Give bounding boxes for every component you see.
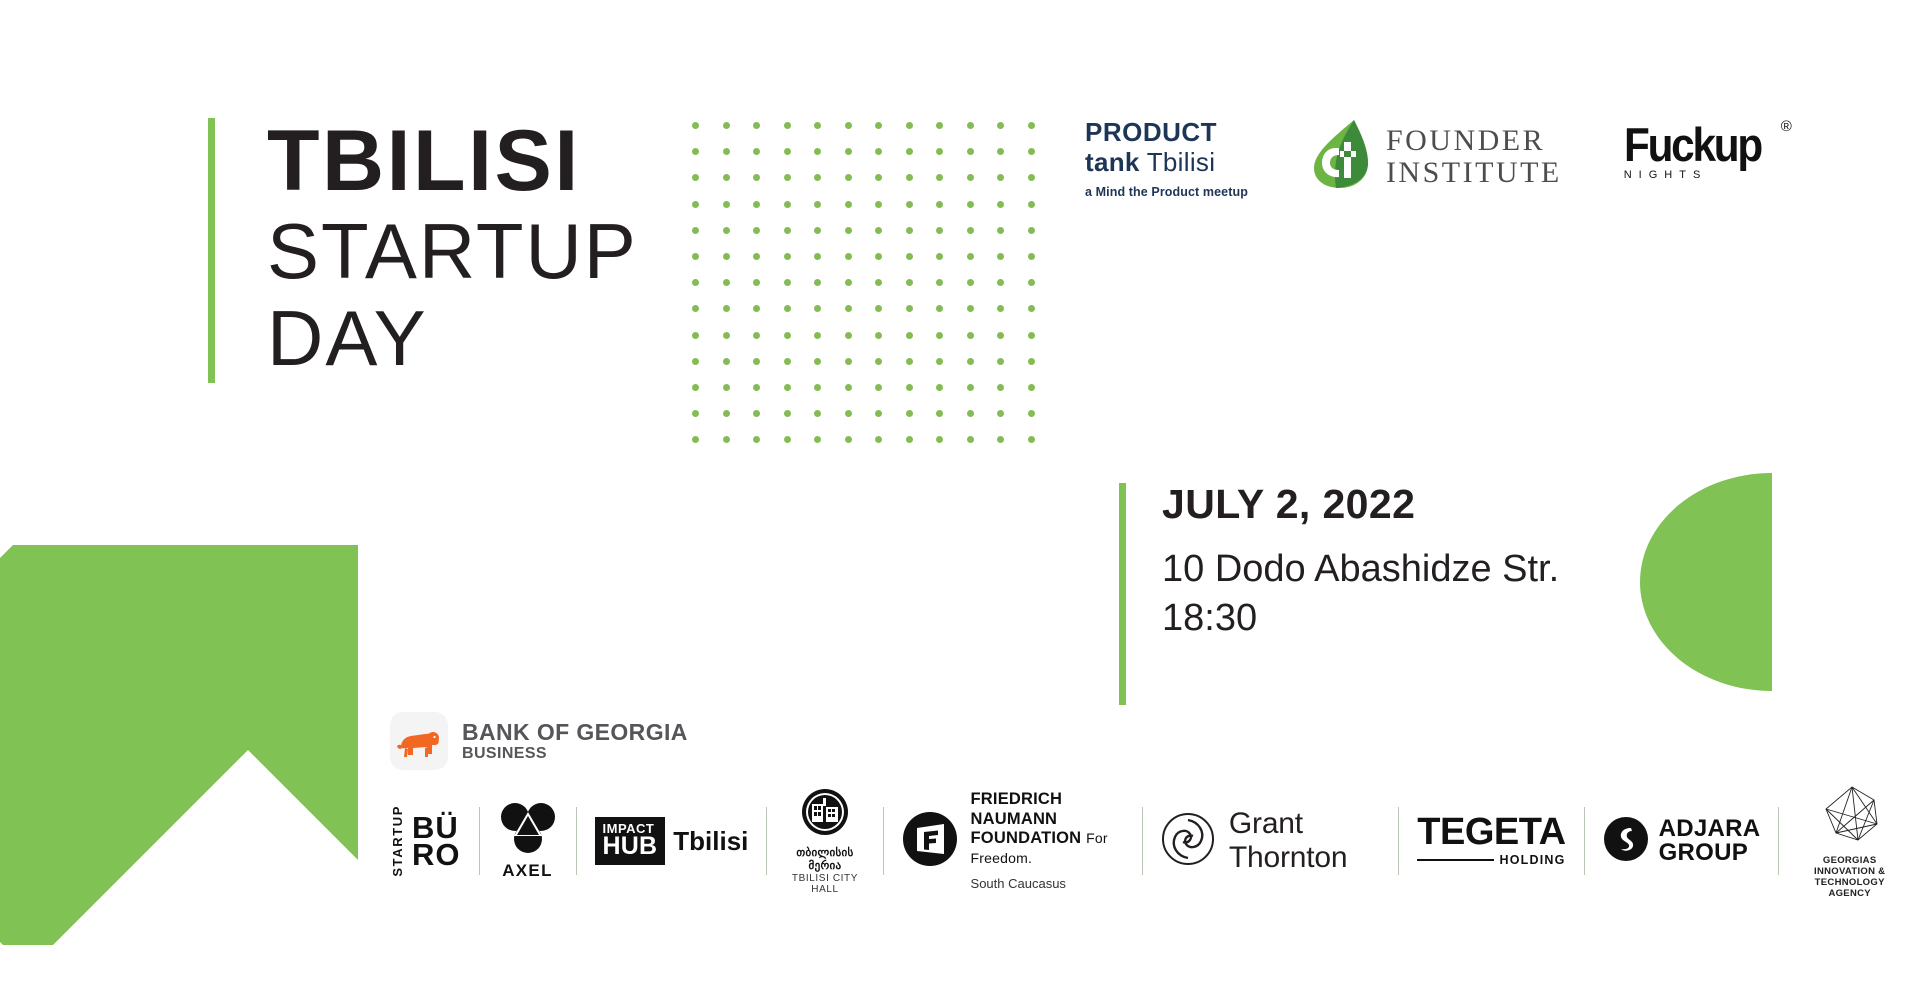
grid-dot xyxy=(692,201,699,208)
grid-dot xyxy=(967,253,974,260)
headline-green-rule xyxy=(208,118,215,383)
grid-dot xyxy=(845,358,852,365)
grid-dot xyxy=(906,148,913,155)
grid-dot xyxy=(784,358,791,365)
grid-dot xyxy=(1028,201,1035,208)
grid-dot xyxy=(997,279,1004,286)
grid-dot xyxy=(875,122,882,129)
founder-institute-line1: FOUNDER xyxy=(1386,125,1562,157)
grid-dot xyxy=(875,436,882,443)
organizer-logos: PRODUCT tank Tbilisi a Mind the Product … xyxy=(1085,118,1776,199)
event-address: 10 Dodo Abashidze Str. xyxy=(1162,545,1559,594)
grid-dot xyxy=(753,227,760,234)
grid-dot xyxy=(875,358,882,365)
grid-dot xyxy=(1028,410,1035,417)
grid-dot xyxy=(784,436,791,443)
grid-dot xyxy=(692,227,699,234)
grid-dot xyxy=(692,148,699,155)
product-tank-line1: PRODUCT xyxy=(1085,118,1248,147)
grid-dot xyxy=(875,305,882,312)
grid-dot xyxy=(784,305,791,312)
grid-dot xyxy=(692,122,699,129)
grid-dot xyxy=(967,305,974,312)
leaf-icon xyxy=(1310,118,1374,195)
grid-dot xyxy=(967,122,974,129)
grid-dot xyxy=(784,410,791,417)
grid-dot xyxy=(723,148,730,155)
grid-dot xyxy=(845,305,852,312)
grid-dot xyxy=(845,122,852,129)
grid-dot xyxy=(1028,384,1035,391)
grid-dot xyxy=(1028,279,1035,286)
grid-dot xyxy=(692,410,699,417)
grid-dot xyxy=(875,148,882,155)
grid-dot xyxy=(967,358,974,365)
grid-dot xyxy=(845,148,852,155)
grid-dot xyxy=(814,201,821,208)
fuckup-nights-logo: Fuckup ® NIGHTS xyxy=(1624,118,1776,181)
event-title-line1: TBILISI xyxy=(267,118,638,204)
grid-dot xyxy=(753,253,760,260)
grid-dot xyxy=(967,227,974,234)
grid-dot xyxy=(936,174,943,181)
grid-dot xyxy=(936,410,943,417)
grid-dot xyxy=(814,358,821,365)
grid-dot xyxy=(936,227,943,234)
grid-dot xyxy=(692,358,699,365)
grid-dot xyxy=(753,332,760,339)
grid-dot xyxy=(753,148,760,155)
green-half-circle-decoration xyxy=(1640,473,1772,691)
grid-dot xyxy=(784,384,791,391)
grid-dot xyxy=(997,122,1004,129)
grid-dot xyxy=(936,148,943,155)
grid-dot xyxy=(723,332,730,339)
grid-dot xyxy=(723,358,730,365)
grid-dot xyxy=(784,122,791,129)
grid-dot xyxy=(875,227,882,234)
grid-dot xyxy=(906,410,913,417)
grid-dot xyxy=(814,174,821,181)
grant-thornton-swirl-icon xyxy=(1161,812,1215,871)
grid-dot xyxy=(906,279,913,286)
grid-dot xyxy=(967,332,974,339)
grid-dot xyxy=(723,174,730,181)
grid-dot xyxy=(1028,305,1035,312)
grid-dot xyxy=(936,122,943,129)
grid-dot xyxy=(997,358,1004,365)
grid-dot xyxy=(753,305,760,312)
grid-dot xyxy=(1028,174,1035,181)
grid-dot xyxy=(967,436,974,443)
green-arrow-decoration xyxy=(0,545,358,945)
grid-dot xyxy=(875,279,882,286)
product-tank-tagline: a Mind the Product meetup xyxy=(1085,185,1248,199)
grid-dot xyxy=(753,201,760,208)
impact-hub-big: HUB xyxy=(603,835,658,859)
grid-dot xyxy=(814,253,821,260)
grid-dot xyxy=(1028,227,1035,234)
grid-dot xyxy=(967,410,974,417)
bank-of-georgia-sub: BUSINESS xyxy=(462,745,688,763)
grid-dot xyxy=(967,148,974,155)
product-tank-city: Tbilisi xyxy=(1147,147,1216,177)
grid-dot xyxy=(692,279,699,286)
grid-dot xyxy=(875,332,882,339)
event-title-line2: STARTUP xyxy=(267,208,638,295)
grid-dot xyxy=(814,148,821,155)
grid-dot xyxy=(1028,253,1035,260)
adjara-circle-icon xyxy=(1603,816,1649,867)
adjara-line2: GROUP xyxy=(1659,841,1761,865)
registered-trademark-icon: ® xyxy=(1781,118,1792,135)
grid-dot xyxy=(814,436,821,443)
grid-dot xyxy=(906,201,913,208)
grid-dot xyxy=(845,332,852,339)
product-tank-line2: tank Tbilisi xyxy=(1085,147,1248,178)
city-hall-seal-icon xyxy=(801,823,849,840)
grid-dot xyxy=(936,384,943,391)
grid-dot xyxy=(753,174,760,181)
grid-dot xyxy=(997,253,1004,260)
grid-dot xyxy=(692,436,699,443)
tegeta-name: TEGETA xyxy=(1417,815,1565,850)
grant-thornton-name: Grant Thornton xyxy=(1229,807,1380,875)
tegeta-sub: HOLDING xyxy=(1500,853,1566,867)
details-green-rule xyxy=(1119,483,1126,705)
grid-dot xyxy=(875,253,882,260)
fuckup-nights-wordmark: Fuckup xyxy=(1624,122,1761,167)
grid-dot xyxy=(997,174,1004,181)
event-poster: TBILISI STARTUP DAY PRODUCT tank Tbilisi… xyxy=(0,0,1920,1005)
bank-of-georgia-logo: BANK OF GEORGIA BUSINESS xyxy=(390,712,688,770)
grid-dot xyxy=(875,201,882,208)
grid-dot xyxy=(784,332,791,339)
grid-dot xyxy=(753,358,760,365)
grid-dot xyxy=(845,227,852,234)
grant-thornton-logo: Grant Thornton xyxy=(1143,795,1398,887)
grid-dot xyxy=(814,122,821,129)
gita-line2: TECHNOLOGY AGENCY xyxy=(1797,877,1902,899)
grid-dot xyxy=(967,384,974,391)
grid-dot xyxy=(845,410,852,417)
dot-grid-decoration xyxy=(692,122,1032,462)
grid-dot xyxy=(692,174,699,181)
grid-dot xyxy=(753,436,760,443)
gita-logo: GEORGIAS INNOVATION & TECHNOLOGY AGENCY xyxy=(1779,795,1920,887)
grid-dot xyxy=(784,279,791,286)
startup-buro-logo: STARTUP BÜ RO xyxy=(372,795,479,887)
event-details: JULY 2, 2022 10 Dodo Abashidze Str. 18:3… xyxy=(1119,483,1559,705)
headline: TBILISI STARTUP DAY xyxy=(208,118,638,383)
tegeta-holding-logo: TEGETA HOLDING xyxy=(1399,795,1583,887)
grid-dot xyxy=(997,436,1004,443)
product-tank-logo: PRODUCT tank Tbilisi a Mind the Product … xyxy=(1085,118,1248,199)
grid-dot xyxy=(906,174,913,181)
grid-dot xyxy=(784,201,791,208)
impact-hub-city: Tbilisi xyxy=(673,826,748,857)
grid-dot xyxy=(997,305,1004,312)
tegeta-rule xyxy=(1417,859,1493,861)
grid-dot xyxy=(814,410,821,417)
bank-of-georgia-name: BANK OF GEORGIA xyxy=(462,719,688,745)
grid-dot xyxy=(936,358,943,365)
grid-dot xyxy=(692,332,699,339)
grid-dot xyxy=(906,305,913,312)
grid-dot xyxy=(875,174,882,181)
grid-dot xyxy=(906,227,913,234)
event-title-line3: DAY xyxy=(267,295,638,382)
grid-dot xyxy=(784,148,791,155)
grid-dot xyxy=(814,279,821,286)
grid-dot xyxy=(845,174,852,181)
grid-dot xyxy=(753,410,760,417)
founder-institute-line2: INSTITUTE xyxy=(1386,157,1562,189)
grid-dot xyxy=(1028,148,1035,155)
grid-dot xyxy=(723,201,730,208)
grid-dot xyxy=(936,279,943,286)
grid-dot xyxy=(723,410,730,417)
tbilisi-city-hall-logo: თბილისის მერია TBILISI CITY HALL xyxy=(767,795,882,887)
grid-dot xyxy=(845,279,852,286)
grid-dot xyxy=(997,332,1004,339)
product-tank-tank: tank xyxy=(1085,147,1140,177)
grid-dot xyxy=(723,279,730,286)
startup-buro-vertical-label: STARTUP xyxy=(390,805,405,877)
axel-logo: AXEL xyxy=(480,795,576,887)
lion-icon xyxy=(390,712,448,770)
grid-dot xyxy=(814,384,821,391)
fnf-line2-bold: FOUNDATION xyxy=(971,829,1082,847)
grid-dot xyxy=(997,227,1004,234)
grid-dot xyxy=(936,332,943,339)
grid-dot xyxy=(997,410,1004,417)
grid-dot xyxy=(814,332,821,339)
grid-dot xyxy=(845,201,852,208)
grid-dot xyxy=(784,227,791,234)
axel-name: AXEL xyxy=(498,861,558,881)
grid-dot xyxy=(723,436,730,443)
impact-hub-logo: IMPACT HUB Tbilisi xyxy=(577,795,767,887)
grid-dot xyxy=(906,436,913,443)
grid-dot xyxy=(692,384,699,391)
grid-dot xyxy=(906,122,913,129)
partner-logo-strip: STARTUP BÜ RO AXEL xyxy=(372,795,1920,887)
fnf-f-mark-icon xyxy=(902,811,958,872)
grid-dot xyxy=(723,384,730,391)
grid-dot xyxy=(814,305,821,312)
grid-dot xyxy=(723,122,730,129)
gita-line1: GEORGIAS INNOVATION & xyxy=(1797,855,1902,877)
event-time: 18:30 xyxy=(1162,594,1559,643)
grid-dot xyxy=(906,253,913,260)
grid-dot xyxy=(936,436,943,443)
friedrich-naumann-foundation-logo: FRIEDRICH NAUMANN FOUNDATION For Freedom… xyxy=(884,795,1142,887)
grid-dot xyxy=(936,305,943,312)
grid-dot xyxy=(1028,122,1035,129)
grid-dot xyxy=(723,253,730,260)
grid-dot xyxy=(997,384,1004,391)
adjara-line1: ADJARA xyxy=(1659,817,1761,841)
grid-dot xyxy=(692,305,699,312)
startup-buro-line2: RO xyxy=(412,841,461,868)
grid-dot xyxy=(753,122,760,129)
grid-dot xyxy=(997,148,1004,155)
grid-dot xyxy=(875,384,882,391)
grid-dot xyxy=(1028,436,1035,443)
grid-dot xyxy=(753,384,760,391)
grid-dot xyxy=(936,253,943,260)
grid-dot xyxy=(845,436,852,443)
fnf-line1: FRIEDRICH NAUMANN xyxy=(971,790,1124,829)
grid-dot xyxy=(967,279,974,286)
grid-dot xyxy=(906,332,913,339)
grid-dot xyxy=(784,253,791,260)
city-hall-georgian-name: თბილისის მერია xyxy=(785,846,864,872)
grid-dot xyxy=(845,253,852,260)
grid-dot xyxy=(967,174,974,181)
grid-dot xyxy=(723,305,730,312)
adjara-group-logo: ADJARA GROUP xyxy=(1585,795,1779,887)
grid-dot xyxy=(723,227,730,234)
grid-dot xyxy=(814,227,821,234)
city-hall-english-name: TBILISI CITY HALL xyxy=(785,873,864,895)
grid-dot xyxy=(1028,358,1035,365)
grid-dot xyxy=(997,201,1004,208)
grid-dot xyxy=(906,384,913,391)
grid-dot xyxy=(753,279,760,286)
event-date: JULY 2, 2022 xyxy=(1162,483,1559,526)
grid-dot xyxy=(1028,332,1035,339)
gita-polygon-icon xyxy=(1814,833,1886,850)
grid-dot xyxy=(875,410,882,417)
grid-dot xyxy=(906,358,913,365)
grid-dot xyxy=(692,253,699,260)
fnf-region: South Caucasus xyxy=(971,876,1124,891)
axel-triangle-icon xyxy=(498,841,558,858)
grid-dot xyxy=(967,201,974,208)
grid-dot xyxy=(845,384,852,391)
grid-dot xyxy=(936,201,943,208)
grid-dot xyxy=(784,174,791,181)
founder-institute-logo: FOUNDER INSTITUTE xyxy=(1310,118,1562,195)
